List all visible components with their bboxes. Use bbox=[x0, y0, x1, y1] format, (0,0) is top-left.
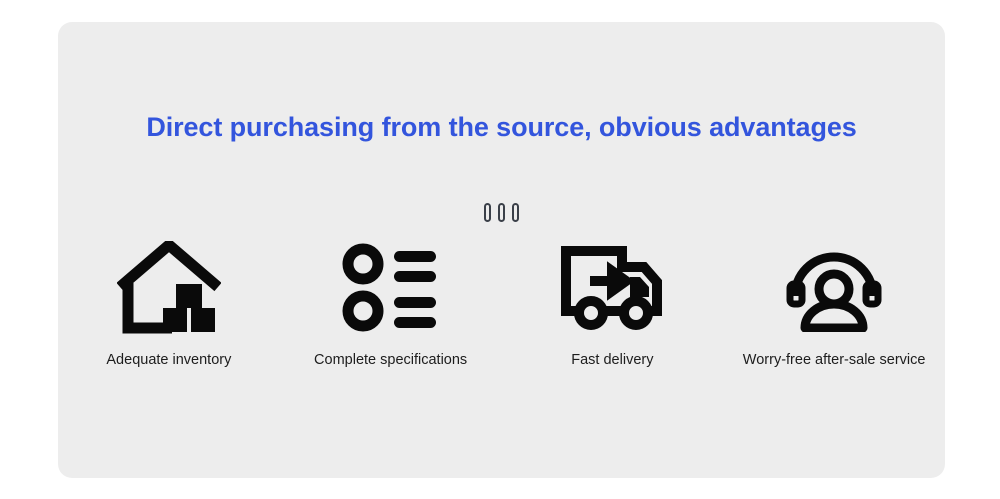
delivery-truck-icon bbox=[560, 240, 664, 336]
warehouse-house-icon bbox=[117, 240, 221, 336]
feature-item-after-sale-service: Worry-free after-sale service bbox=[727, 240, 942, 370]
feature-item-complete-specifications: Complete specifications bbox=[283, 240, 498, 370]
divider-ornament bbox=[58, 200, 945, 224]
divider-pill-2 bbox=[498, 203, 505, 222]
page-title: Direct purchasing from the source, obvio… bbox=[58, 110, 945, 144]
banner-stage: Direct purchasing from the source, obvio… bbox=[0, 0, 1000, 499]
feature-list: Adequate inventory Complete specificatio… bbox=[58, 240, 945, 370]
customer-service-headset-icon bbox=[784, 240, 884, 336]
feature-label: Adequate inventory bbox=[106, 350, 231, 370]
feature-label: Complete specifications bbox=[314, 350, 467, 370]
feature-item-adequate-inventory: Adequate inventory bbox=[61, 240, 276, 370]
feature-item-fast-delivery: Fast delivery bbox=[505, 240, 720, 370]
divider-pill-1 bbox=[484, 203, 491, 222]
feature-label: Worry-free after-sale service bbox=[743, 350, 926, 370]
specification-list-icon bbox=[342, 240, 440, 336]
feature-label: Fast delivery bbox=[571, 350, 653, 370]
divider-pill-3 bbox=[512, 203, 519, 222]
